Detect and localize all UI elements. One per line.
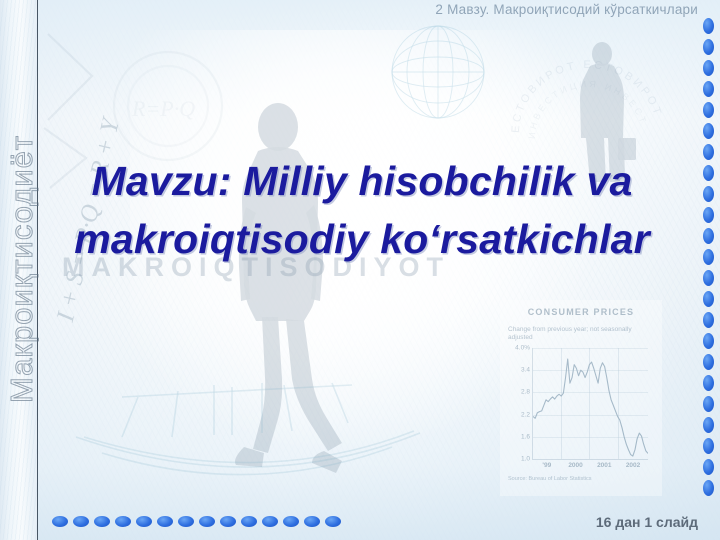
chart-xtick: 2002 — [626, 462, 640, 469]
chart-title: CONSUMER PRICES — [500, 307, 662, 317]
bottom-dot — [220, 516, 236, 527]
right-dot — [703, 123, 714, 139]
right-dot — [703, 375, 714, 391]
chart-ytick: 1.0 — [521, 456, 530, 463]
right-dot — [703, 249, 714, 265]
chart-ytick: 4.0% — [515, 345, 530, 352]
bottom-dot — [283, 516, 299, 527]
chart-xtick: 2001 — [597, 462, 611, 469]
slide-counter: 16 дан 1 слайд — [596, 514, 698, 530]
right-dot — [703, 312, 714, 328]
bottom-dot — [241, 516, 257, 527]
right-dot — [703, 459, 714, 475]
chart-ytick: 2.2 — [521, 411, 530, 418]
chart-ytick: 3.4 — [521, 367, 530, 374]
presentation-slide: R=P·Q ЕСТОВИРОТ ЕСТОВИРОТ ИНВЕСТИЦИЯ ИНВ… — [0, 0, 720, 540]
bottom-dot — [178, 516, 194, 527]
right-dot-strip — [703, 18, 714, 496]
chart-source: Source: Bureau of Labor Statistics — [508, 476, 591, 482]
right-dot — [703, 81, 714, 97]
right-dot — [703, 60, 714, 76]
slide-header-text: 2 Мавзу. Макроиқтисодий кўрсаткичлари — [435, 2, 698, 17]
boat-blueprint-decoration — [62, 375, 432, 505]
right-dot — [703, 291, 714, 307]
svg-text:R=P·Q: R=P·Q — [131, 96, 195, 121]
right-dot — [703, 333, 714, 349]
slide-title-block: Mavzu: Milliy hisobchilik va makroiqtiso… — [12, 152, 712, 268]
right-dot — [703, 228, 714, 244]
bottom-dot — [325, 516, 341, 527]
bottom-dot-strip — [52, 516, 341, 527]
bottom-dot — [73, 516, 89, 527]
page-title-line-1: Mavzu: Milliy hisobchilik va — [12, 152, 712, 210]
right-dot — [703, 165, 714, 181]
chart-plot-area: 4.0% 3.4 2.8 2.2 1.6 1.0 '99 2000 2001 2… — [532, 348, 648, 460]
right-dot — [703, 102, 714, 118]
chart-line-series — [533, 348, 648, 459]
bottom-dot — [199, 516, 215, 527]
bottom-dot — [136, 516, 152, 527]
right-dot — [703, 207, 714, 223]
chart-ytick: 2.8 — [521, 389, 530, 396]
right-dot — [703, 480, 714, 496]
chart-xtick: '99 — [542, 462, 551, 469]
chart-subtitle: Change from previous year; not seasonall… — [508, 326, 638, 342]
bottom-dot — [94, 516, 110, 527]
bottom-dot — [157, 516, 173, 527]
right-dot — [703, 417, 714, 433]
right-dot — [703, 186, 714, 202]
bottom-dot — [304, 516, 320, 527]
bottom-dot — [52, 516, 68, 527]
right-dot — [703, 438, 714, 454]
page-title-line-2: makroiqtisodiy koʻrsatkichlar — [12, 210, 712, 268]
chart-ytick: 1.6 — [521, 433, 530, 440]
right-dot — [703, 18, 714, 34]
consumer-prices-chart: CONSUMER PRICES Change from previous yea… — [500, 300, 662, 496]
chart-xtick: 2000 — [568, 462, 582, 469]
globe-icon — [384, 18, 492, 126]
right-dot — [703, 270, 714, 286]
bottom-dot — [262, 516, 278, 527]
right-dot — [703, 144, 714, 160]
right-dot — [703, 396, 714, 412]
right-dot — [703, 354, 714, 370]
right-dot — [703, 39, 714, 55]
bottom-dot — [115, 516, 131, 527]
